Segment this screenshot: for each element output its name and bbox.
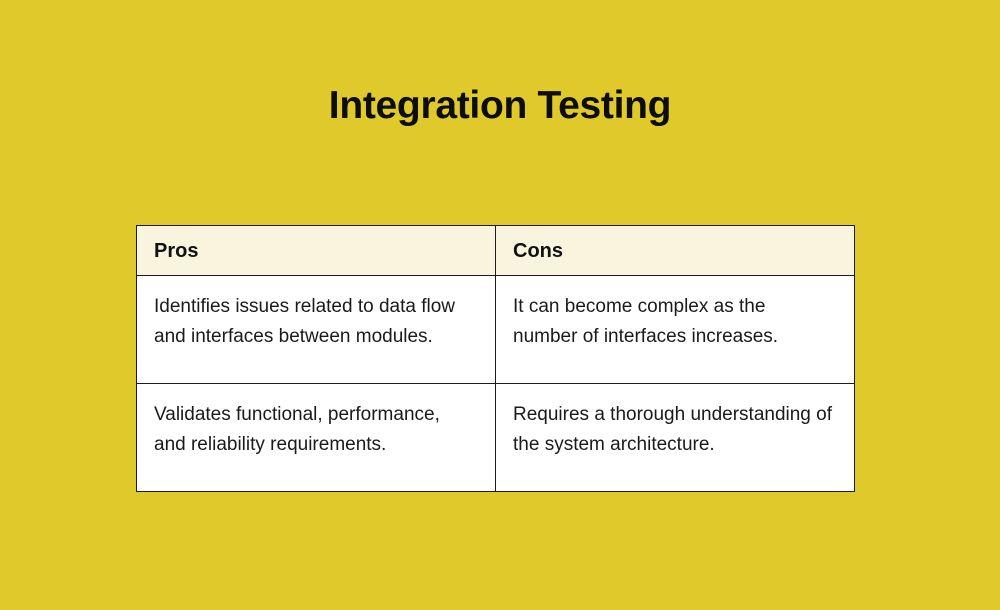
table-body: Identifies issues related to data flow a… bbox=[137, 276, 855, 492]
cell-cons-1-text: It can become complex as the number of i… bbox=[513, 292, 832, 351]
column-header-cons: Cons bbox=[496, 226, 855, 276]
table-row: Validates functional, performance, and r… bbox=[137, 384, 855, 492]
cell-pros-1-text: Identifies issues related to data flow a… bbox=[154, 292, 473, 351]
cell-pros-2-text: Validates functional, performance, and r… bbox=[154, 400, 473, 459]
pros-cons-table: Pros Cons Identifies issues related to d… bbox=[136, 225, 855, 492]
page-title: Integration Testing bbox=[0, 83, 1000, 129]
column-header-pros: Pros bbox=[137, 226, 496, 276]
column-header-pros-label: Pros bbox=[154, 239, 479, 263]
column-header-cons-label: Cons bbox=[513, 239, 838, 263]
cell-cons-1: It can become complex as the number of i… bbox=[496, 276, 855, 384]
cell-cons-2-text: Requires a thorough understanding of the… bbox=[513, 400, 832, 459]
cell-cons-2: Requires a thorough understanding of the… bbox=[496, 384, 855, 492]
cell-pros-2: Validates functional, performance, and r… bbox=[137, 384, 496, 492]
table-header-row: Pros Cons bbox=[137, 226, 855, 276]
cell-pros-1: Identifies issues related to data flow a… bbox=[137, 276, 496, 384]
slide-canvas: Integration Testing Pros Cons Identifies… bbox=[0, 0, 1000, 610]
table-header: Pros Cons bbox=[137, 226, 855, 276]
table-row: Identifies issues related to data flow a… bbox=[137, 276, 855, 384]
